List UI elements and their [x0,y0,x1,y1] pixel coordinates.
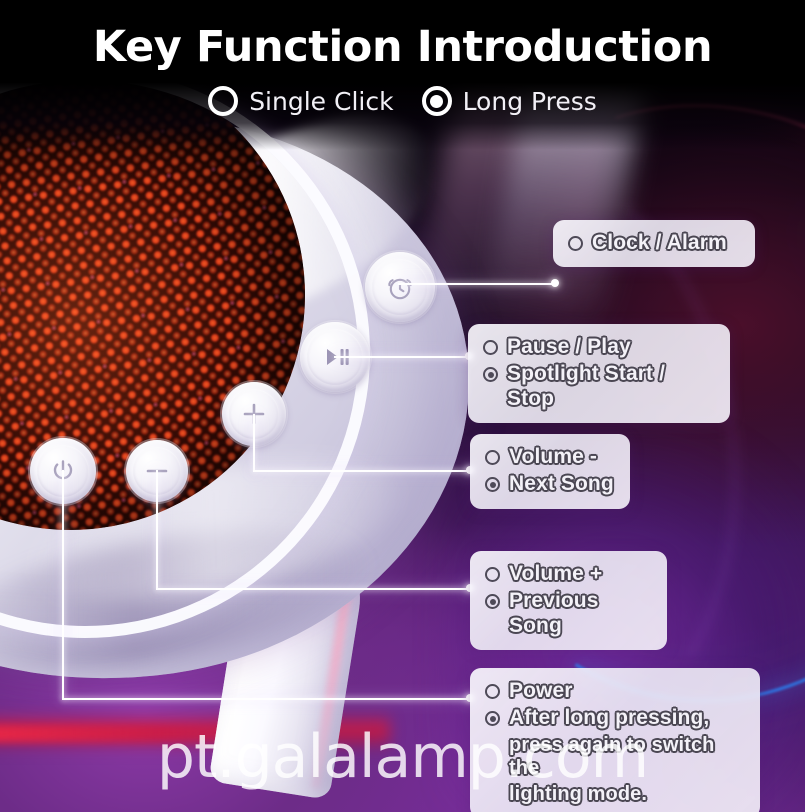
callout-clock-alarm: Clock / Alarm [553,220,755,267]
callout-line: press again to switch the [485,734,745,780]
leader-line-minus-horizontal [156,588,472,590]
header: Key Function Introduction Single Click L… [0,0,805,116]
long-press-mark-icon [485,477,500,492]
callout-text: Clock / Alarm [592,231,727,255]
callout-text: Spotlight Start / Stop [507,362,715,411]
product-infographic: Clock / Alarm Pause / Play Spotlight Sta… [0,0,805,812]
callout-line: Next Song [485,472,615,496]
leader-line-power-vertical [62,470,64,700]
leader-line-plus-vertical [253,414,255,472]
long-press-mark-icon [485,594,500,609]
callout-line: Previous Song [485,589,652,638]
leader-line-power-horizontal [62,698,472,700]
callout-line: Volume + [485,562,652,586]
callout-line: lighting mode. [485,783,745,806]
long-press-mark-icon [485,711,500,726]
callout-text: press again to switch the [509,734,745,780]
callout-text: Power [509,679,573,703]
page-title: Key Function Introduction [0,0,805,72]
leader-dot-alarm [551,279,559,287]
legend-label: Long Press [463,87,597,116]
hollow-circle-icon [208,86,238,116]
single-click-mark-icon [485,684,500,699]
callout-text: Pause / Play [507,335,631,359]
callout-text: After long pressing, [509,706,709,730]
leader-line-play [334,356,470,358]
long-press-mark-icon [483,367,498,382]
callout-line: Clock / Alarm [568,231,740,255]
callout-power: Power After long pressing, press again t… [470,668,760,812]
callout-pause-play: Pause / Play Spotlight Start / Stop [468,324,730,423]
legend: Single Click Long Press [0,86,805,116]
callout-line: Volume - [485,445,615,469]
callout-line: After long pressing, [485,706,745,730]
single-click-mark-icon [485,450,500,465]
single-click-mark-icon [568,236,583,251]
alarm-clock-icon [384,271,416,303]
callout-text: Volume + [509,562,602,586]
filled-dot-icon [422,86,452,116]
callout-text: lighting mode. [509,783,647,806]
alarm-button[interactable] [365,252,435,322]
callout-volume-minus: Volume - Next Song [470,434,630,509]
callout-line: Pause / Play [483,335,715,359]
leader-line-minus-vertical [156,470,158,590]
callout-text: Next Song [509,472,614,496]
legend-item-single-click: Single Click [208,86,393,116]
callout-text: Previous Song [509,589,652,638]
callout-volume-plus: Volume + Previous Song [470,551,667,650]
single-click-mark-icon [483,340,498,355]
legend-item-long-press: Long Press [422,86,597,116]
leader-line-plus-horizontal [253,470,472,472]
callout-line: Spotlight Start / Stop [483,362,715,411]
callout-line: Power [485,679,745,703]
callout-text: Volume - [509,445,597,469]
legend-label: Single Click [249,87,393,116]
single-click-mark-icon [485,567,500,582]
leader-line-alarm [398,283,556,285]
